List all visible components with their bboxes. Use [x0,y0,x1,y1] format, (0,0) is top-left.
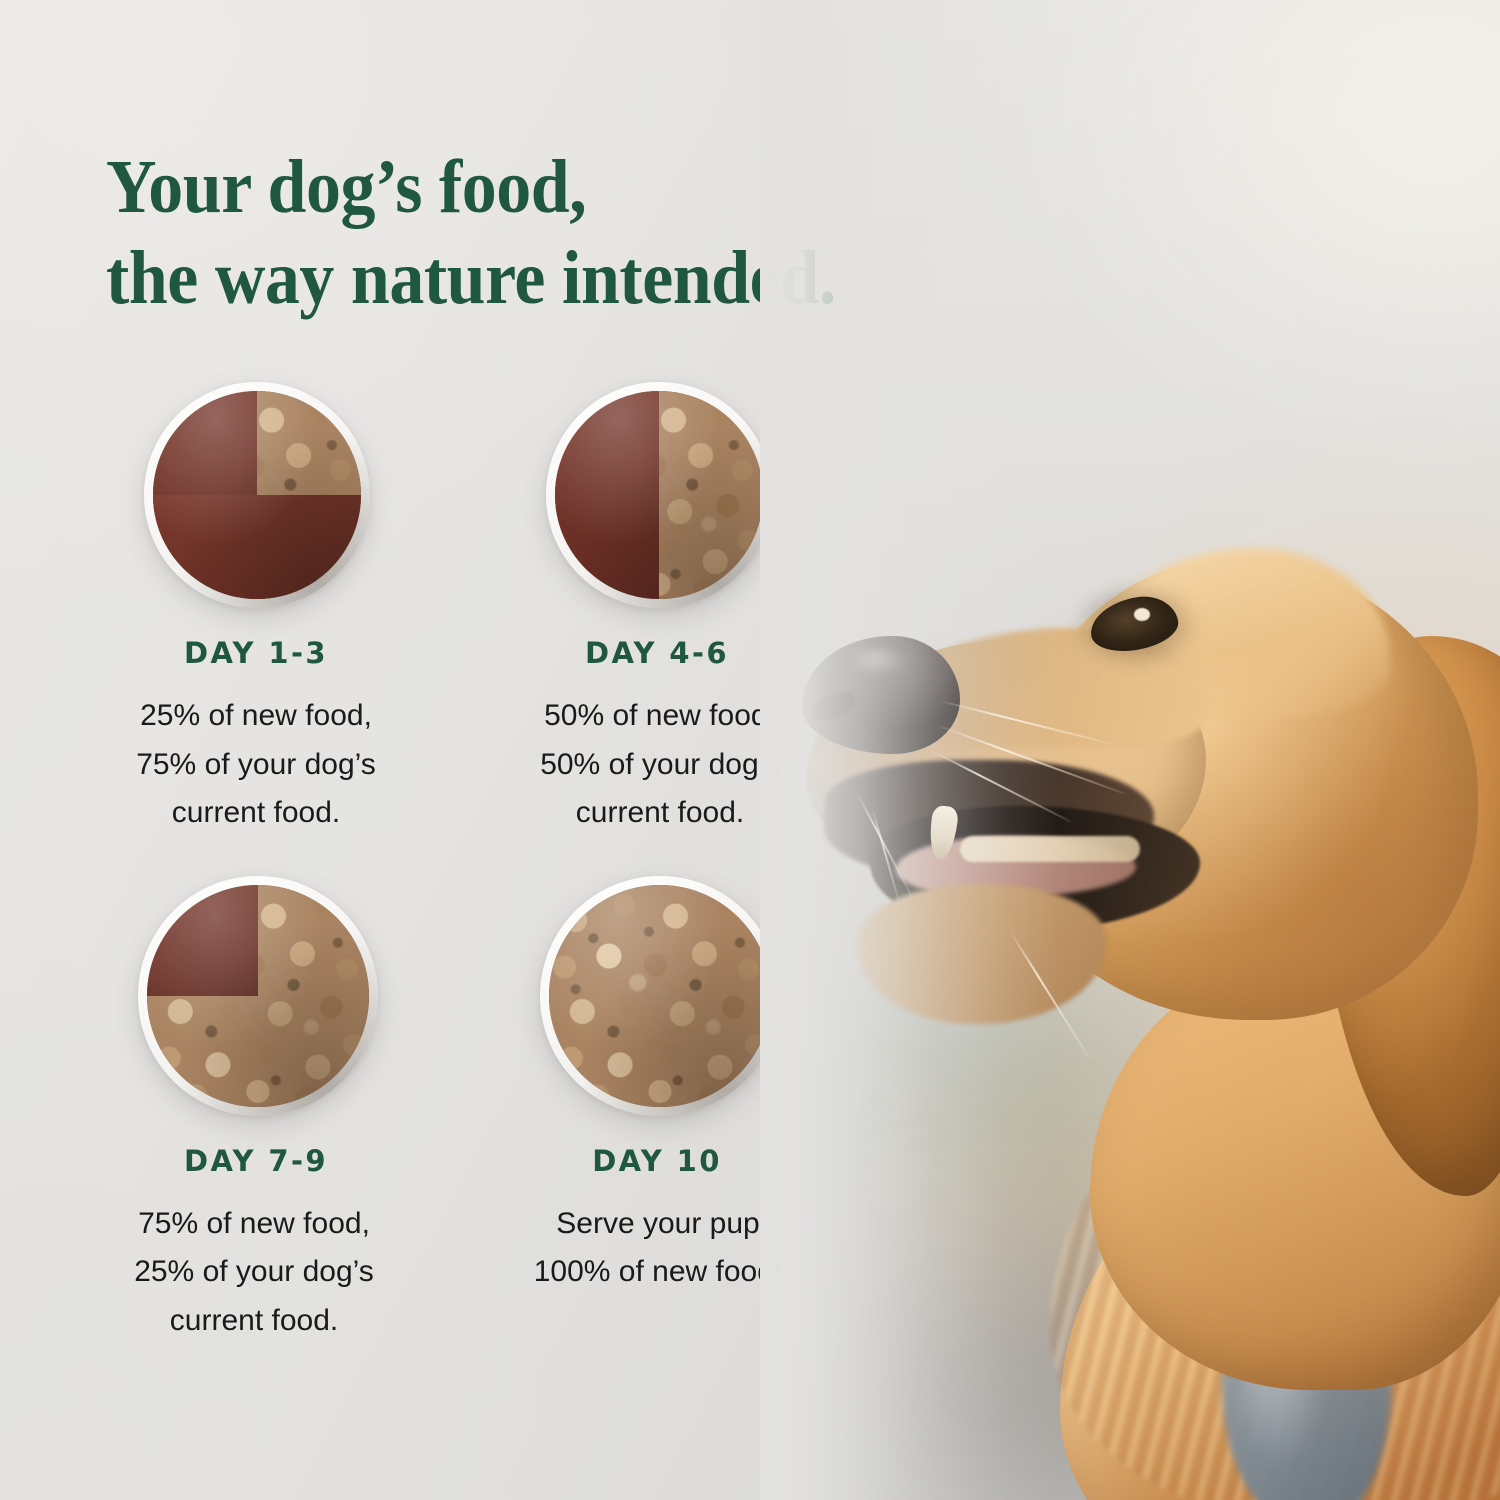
dog-bowl-icon [144,382,370,608]
bowl-contents [153,391,361,599]
day-label: DAY 4-6 [514,636,800,670]
dog-bowl-icon [546,382,772,608]
transition-step: DAY 4-6 50% of new food, 50% of your dog… [510,382,820,838]
transition-guide-graphic: Your dog’s food, the way nature intended… [0,0,1500,1500]
day-label: DAY 1-3 [120,636,392,670]
dog-nose-highlight [852,648,904,676]
dog-teeth [960,836,1140,862]
dog-chin [856,884,1106,1024]
dog-figure [760,0,1500,1500]
bowl-contents [555,391,763,599]
current-food-region [147,885,258,996]
dog-bowl-icon [540,876,780,1116]
step-description: 25% of new food, 75% of your dog’s curre… [106,692,406,838]
bowl-contents [147,885,369,1107]
current-food-region [555,391,659,599]
transition-step: DAY 10 Serve your pup 100% of new food! [510,876,820,1346]
current-food-region [153,495,361,599]
transition-step: DAY 7-9 75% of new food, 25% of your dog… [120,876,510,1346]
dog-bowl-icon [138,876,378,1116]
step-description: Serve your pup 100% of new food! [500,1200,816,1297]
bowl-contents [549,885,771,1107]
transition-steps-grid: DAY 1-3 25% of new food, 75% of your dog… [120,382,820,1346]
page-title: Your dog’s food, the way nature intended… [106,142,836,324]
transition-step: DAY 1-3 25% of new food, 75% of your dog… [120,382,510,838]
golden-retriever-photo [760,0,1500,1500]
step-description: 75% of new food, 25% of your dog’s curre… [104,1200,404,1346]
day-label: DAY 10 [514,1144,800,1178]
day-label: DAY 7-9 [120,1144,392,1178]
new-food-kibble [549,885,771,1107]
dog-eye-catchlight [1134,608,1150,621]
step-description: 50% of new food, 50% of your dog’s curre… [510,692,810,838]
